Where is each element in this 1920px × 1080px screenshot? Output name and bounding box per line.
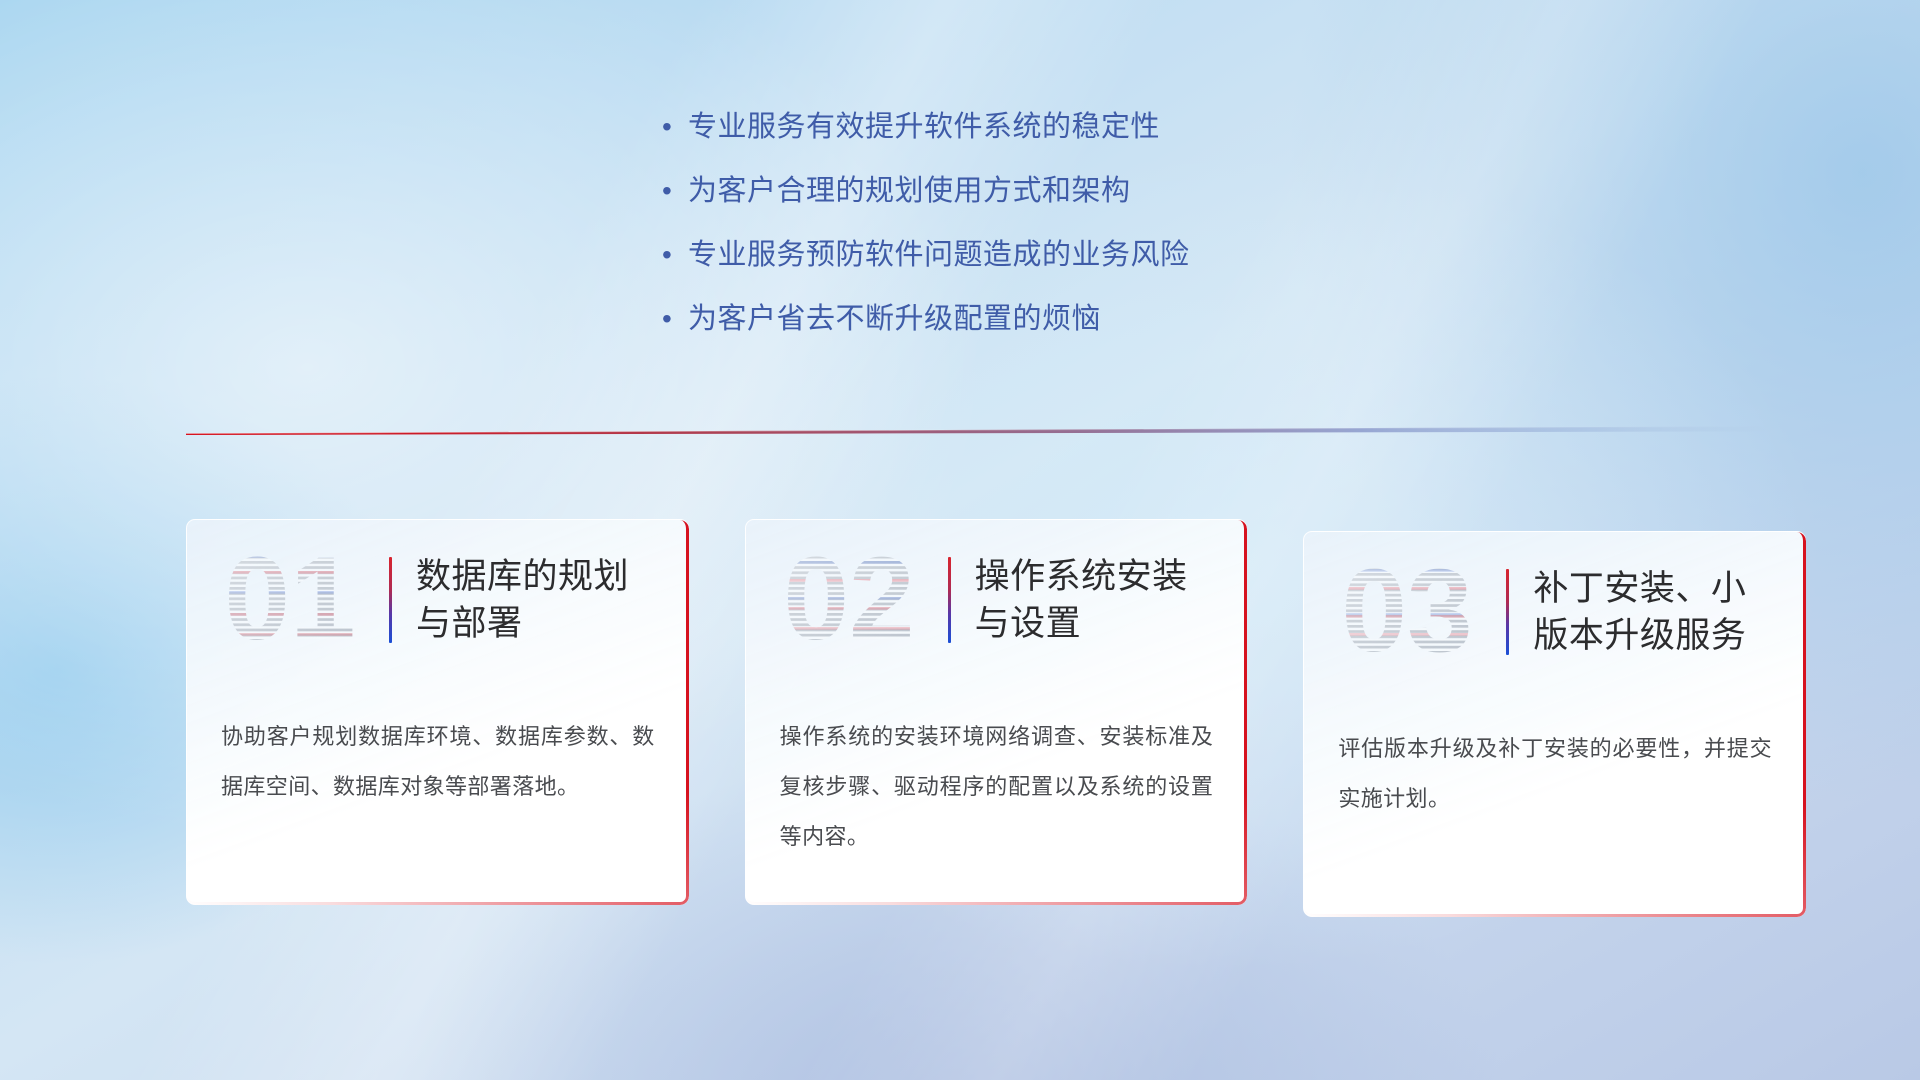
bullet-item-3: • 专业服务预防软件问题造成的业务风险 — [662, 236, 1442, 274]
card-title-03: 补丁安装、小版本升级服务 — [1533, 565, 1780, 659]
card-accent-bar — [389, 557, 392, 643]
bullet-item-2: • 为客户合理的规划使用方式和架构 — [662, 172, 1442, 210]
card-number-watermark: 02 — [764, 535, 934, 665]
card-number-watermark: 01 — [205, 535, 375, 665]
bullet-text-4: 为客户省去不断升级配置的烦恼 — [688, 300, 1101, 338]
card-header: 01 数 — [187, 520, 689, 666]
slide-canvas: • 专业服务有效提升软件系统的稳定性 • 为客户合理的规划使用方式和架构 • 专… — [0, 0, 1920, 1080]
bullet-item-4: • 为客户省去不断升级配置的烦恼 — [662, 300, 1442, 338]
bullet-dot-icon: • — [662, 300, 688, 338]
striped-number-icon: 01 — [205, 535, 375, 665]
section-divider — [186, 424, 1776, 438]
card-number-watermark: 03 — [1322, 547, 1492, 677]
card-row: 01 数 — [186, 519, 1806, 917]
card-body-02: 操作系统的安装环境网络调查、安装标准及复核步骤、驱动程序的配置以及系统的设置等内… — [746, 666, 1248, 862]
card-header: 03 补 — [1304, 532, 1806, 678]
bullet-dot-icon: • — [662, 236, 688, 274]
bullet-list: • 专业服务有效提升软件系统的稳定性 • 为客户合理的规划使用方式和架构 • 专… — [662, 108, 1442, 364]
service-card-01[interactable]: 01 数 — [186, 519, 689, 905]
divider-shape-icon — [186, 424, 1776, 438]
striped-number-icon: 02 — [764, 535, 934, 665]
card-header: 02 操 — [746, 520, 1248, 666]
card-title-02: 操作系统安装与设置 — [975, 553, 1222, 647]
card-accent-bar — [948, 557, 951, 643]
service-card-03[interactable]: 03 补 — [1303, 531, 1806, 917]
striped-number-icon: 03 — [1322, 547, 1492, 677]
card-title-01: 数据库的规划与部署 — [416, 553, 663, 647]
card-body-01: 协助客户规划数据库环境、数据库参数、数据库空间、数据库对象等部署落地。 — [187, 666, 689, 812]
card-body-03: 评估版本升级及补丁安装的必要性，并提交实施计划。 — [1304, 678, 1806, 824]
bullet-text-3: 专业服务预防软件问题造成的业务风险 — [688, 236, 1190, 274]
card-accent-bar — [1506, 569, 1509, 655]
bullet-text-1: 专业服务有效提升软件系统的稳定性 — [688, 108, 1160, 146]
service-card-02[interactable]: 02 操 — [745, 519, 1248, 905]
bullet-dot-icon: • — [662, 172, 688, 210]
bullet-dot-icon: • — [662, 108, 688, 146]
bullet-text-2: 为客户合理的规划使用方式和架构 — [688, 172, 1131, 210]
bullet-item-1: • 专业服务有效提升软件系统的稳定性 — [662, 108, 1442, 146]
